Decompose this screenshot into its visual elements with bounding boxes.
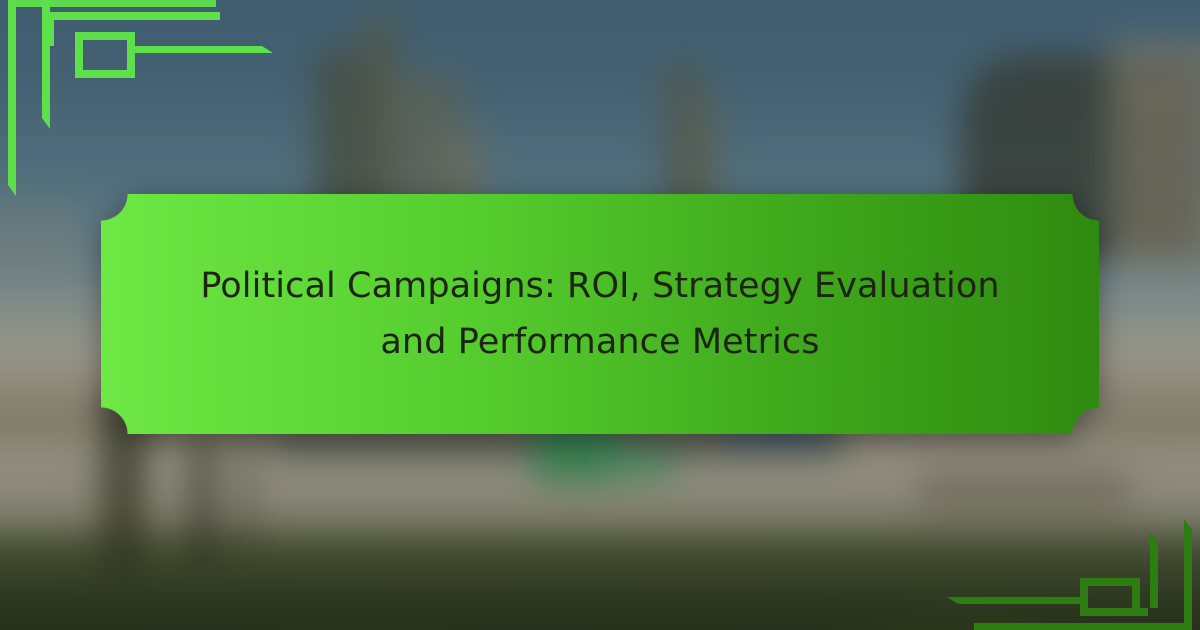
deco-line-hook (46, 12, 54, 46)
title-card: Political Campaigns: ROI, Strategy Evalu… (0, 0, 1200, 630)
corner-decoration-top-left (0, 0, 420, 210)
corner-decoration-bottom-right (960, 520, 1200, 630)
deco-line-horizontal-top (42, 12, 220, 20)
title-banner: Political Campaigns: ROI, Strategy Evalu… (101, 194, 1099, 434)
deco-square-right (1132, 578, 1140, 616)
deco-line-bottom (974, 623, 1184, 630)
deco-square-bottom (75, 70, 135, 78)
deco-square-right (127, 32, 135, 78)
deco-line-horizontal-long (958, 597, 1088, 604)
deco-line-vertical-outer (8, 0, 16, 185)
deco-line-vertical-outer (1184, 530, 1192, 630)
title-banner-surface: Political Campaigns: ROI, Strategy Evalu… (101, 194, 1099, 434)
deco-line-horizontal-long (127, 46, 262, 53)
page-title: Political Campaigns: ROI, Strategy Evalu… (170, 258, 1030, 370)
deco-line-vertical-inner (1150, 542, 1158, 608)
deco-square-left (75, 32, 83, 78)
